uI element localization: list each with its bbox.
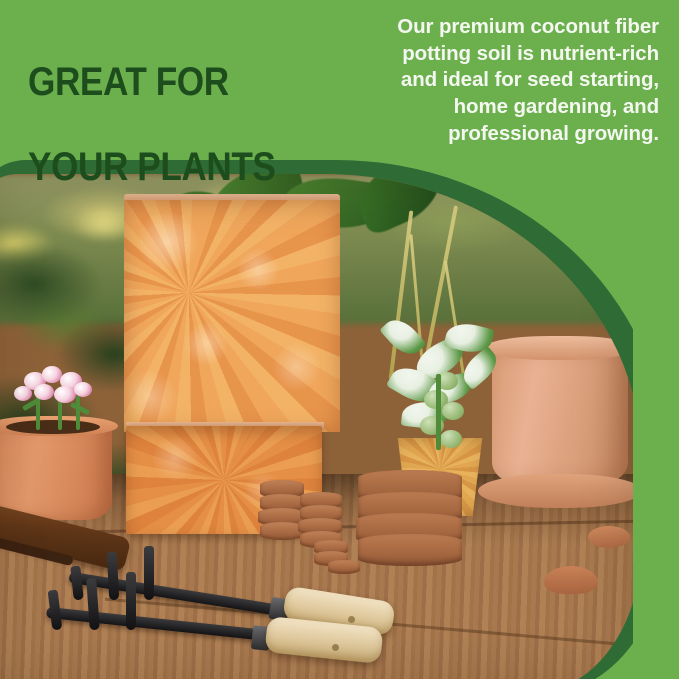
subcopy: Our premium coconut fiber potting soil i… — [311, 14, 659, 147]
terracotta-piece — [544, 566, 598, 594]
pot-saucer — [478, 474, 642, 508]
succulent-leaf — [442, 402, 464, 420]
plant-stem — [76, 396, 80, 430]
flower — [42, 366, 62, 383]
coir-pellet — [328, 560, 360, 574]
product-photo — [0, 174, 642, 679]
coir-disc — [358, 534, 462, 566]
succulent-leaf — [440, 430, 462, 448]
handle-knot — [332, 644, 339, 651]
terracotta-pot-right — [492, 346, 628, 484]
flower — [74, 382, 92, 397]
handle-knot — [348, 616, 355, 623]
subcopy-line-4: home gardening, and — [311, 94, 659, 121]
headline-line-1: GREAT FOR — [28, 61, 292, 104]
terracotta-pot-left — [0, 424, 112, 520]
plant-leaf — [70, 402, 90, 415]
headline-line-2: YOUR PLANTS — [28, 146, 292, 189]
flowering-plant — [6, 362, 110, 430]
terracotta-piece — [588, 526, 630, 548]
headline: GREAT FOR YOUR PLANTS — [28, 18, 292, 232]
subcopy-line-1: Our premium coconut fiber — [311, 14, 659, 41]
cultivator-tine — [126, 572, 136, 630]
flower — [14, 386, 32, 401]
plant-stem — [436, 374, 441, 450]
terracotta-pot-rim — [484, 336, 636, 360]
flower — [34, 384, 54, 400]
coir-brick-large — [124, 200, 340, 432]
subcopy-line-2: potting soil is nutrient-rich — [311, 41, 659, 68]
flower — [54, 386, 76, 403]
subcopy-line-5: professional growing. — [311, 121, 659, 148]
product-banner: GREAT FOR YOUR PLANTS Our premium coconu… — [0, 0, 679, 679]
cultivator-tine — [144, 546, 154, 600]
subcopy-line-3: and ideal for seed starting, — [311, 67, 659, 94]
banner-header: GREAT FOR YOUR PLANTS Our premium coconu… — [0, 0, 679, 178]
